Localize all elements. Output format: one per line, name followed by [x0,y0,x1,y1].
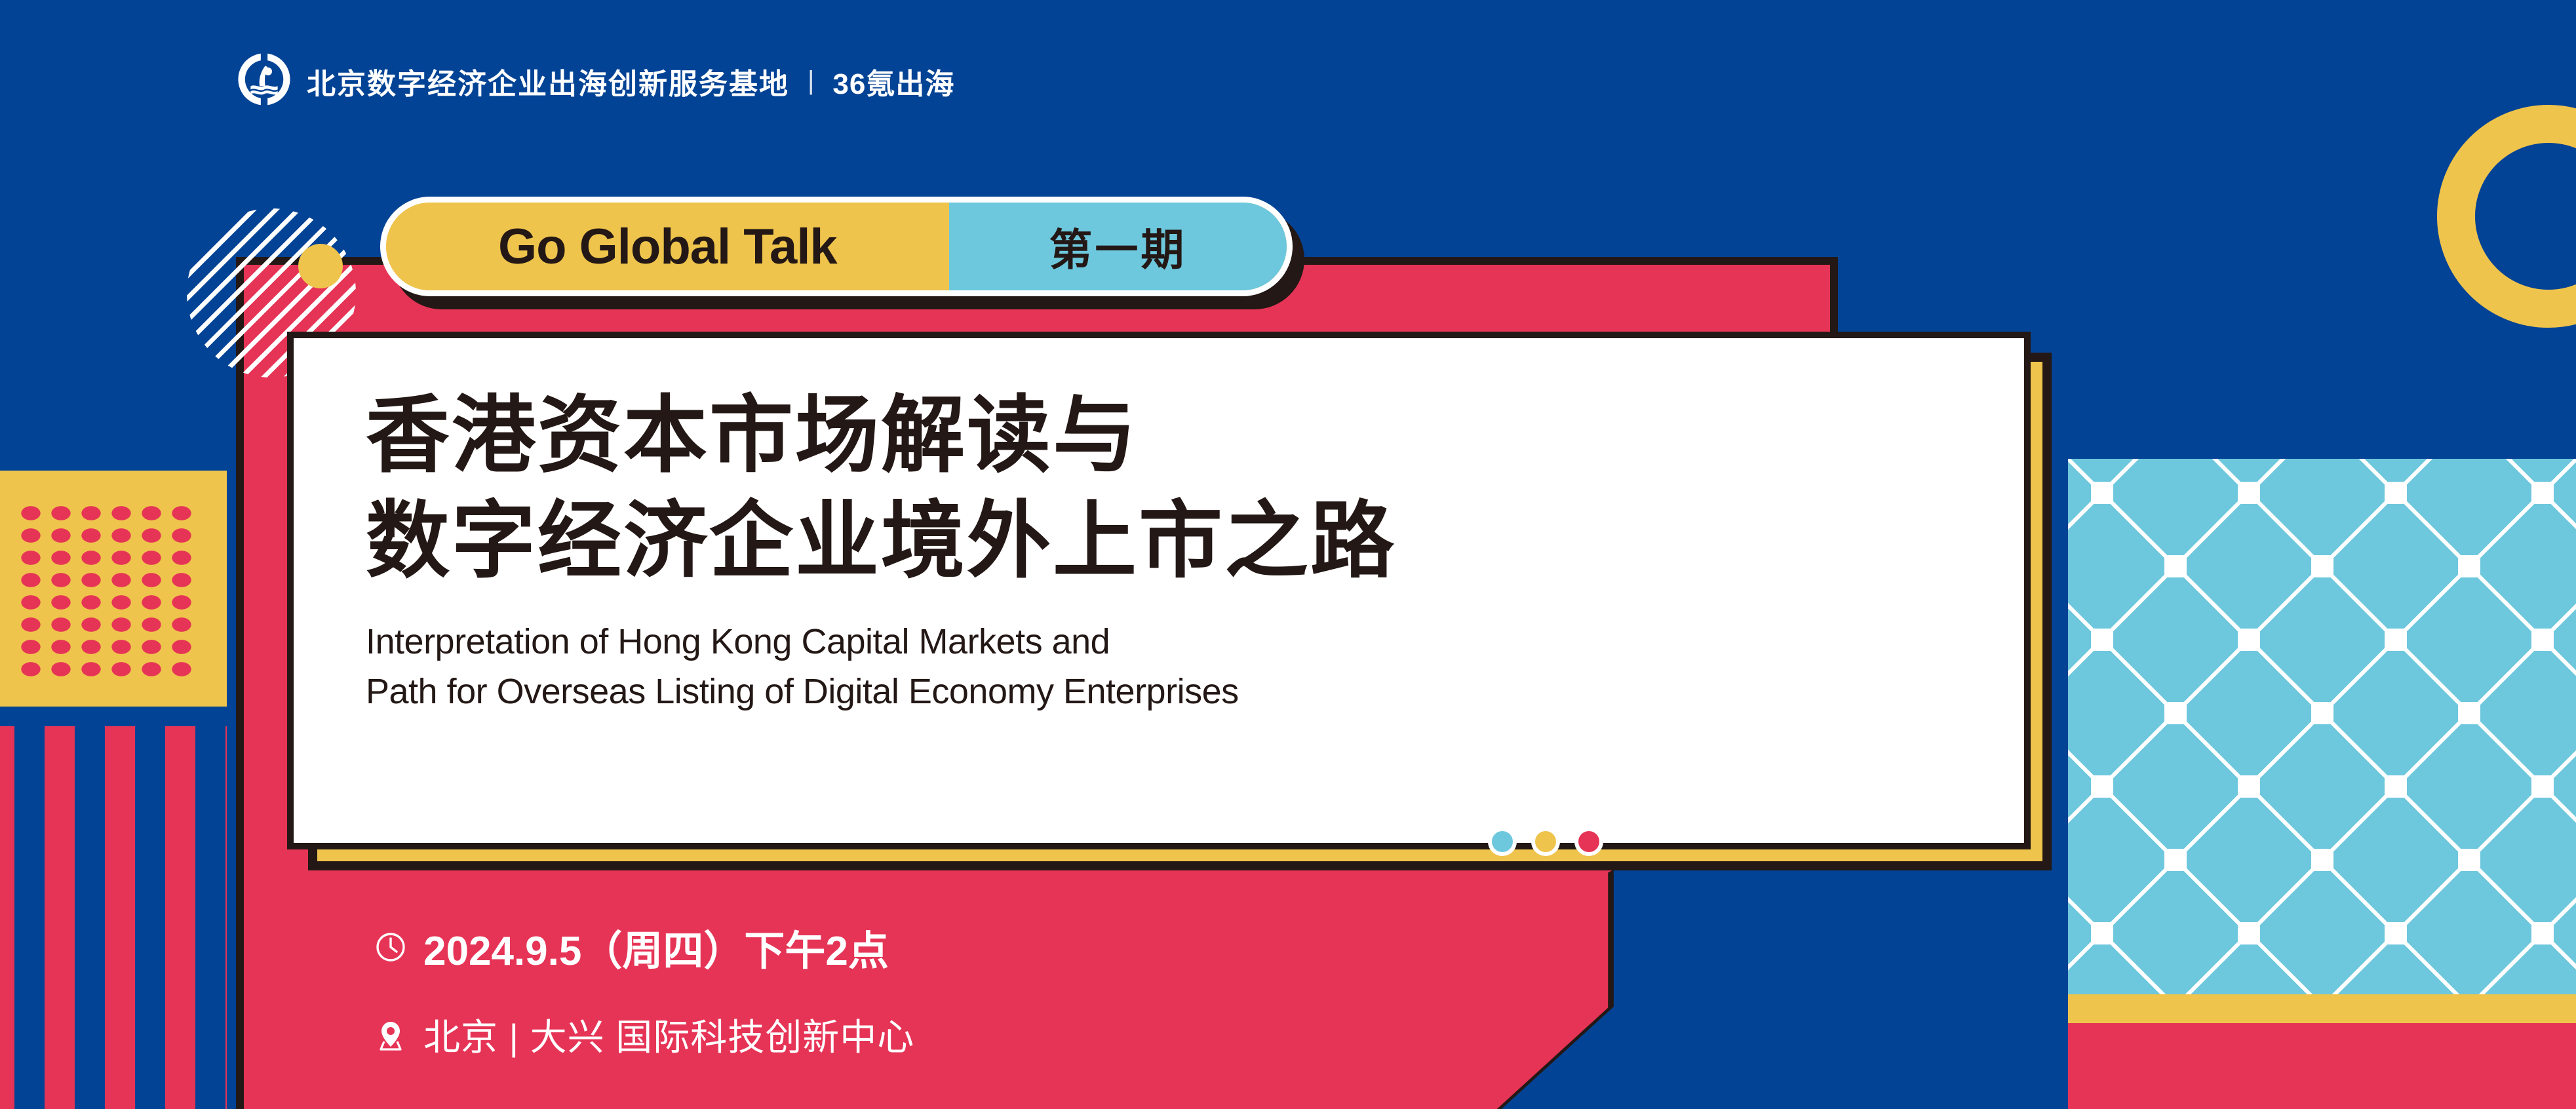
lattice-node [2164,702,2187,724]
title-line-2: 数字经济企业境外上市之路 [366,488,1985,594]
subtitle-line-1: Interpretation of Hong Kong Capital Mark… [366,617,1985,667]
series-badge-right: 第一期 [949,203,1287,290]
lattice-node [2458,849,2480,871]
partner-name: 36氪出海 [832,60,954,102]
event-date: 2024.9.5（周四）下午2点 [423,918,889,977]
dot-cyan [1488,827,1517,856]
lattice-node [2164,849,2187,871]
location-pin-icon [375,1019,406,1051]
series-badge-body: Go Global Talk 第一期 [380,197,1293,296]
lattice-node [2238,629,2260,651]
logo-separator: | [808,66,814,96]
lattice-node [2458,555,2480,577]
dot-yellow [1531,827,1560,856]
title-line-1: 香港资本市场解读与 [366,383,1985,488]
title-card: 香港资本市场解读与 数字经济企业境外上市之路 Interpretation of… [294,338,2024,843]
lattice-node [2238,775,2260,798]
lattice-node [2531,775,2554,798]
lattice-node [2531,629,2554,651]
event-meta: 2024.9.5（周四）下午2点 北京 | 大兴 国际科技创新中心 [375,918,914,1061]
event-date-row: 2024.9.5（周四）下午2点 [375,918,914,977]
series-label: Go Global Talk [498,218,837,275]
lattice-node [2091,482,2113,504]
color-dot-row [1488,827,1603,856]
lattice-node [2311,555,2333,577]
lattice-node [2385,775,2407,798]
yellow-circle-decoration [298,244,343,288]
lattice-node [2311,849,2333,871]
lattice-node [2458,702,2480,724]
yellow-dot-grid-block [0,471,227,707]
lattice-node [2238,922,2260,944]
title-card-content: 香港资本市场解读与 数字经济企业境外上市之路 Interpretation of… [366,383,1985,717]
vertical-stripes-decoration [0,726,227,1109]
lattice-node [2091,629,2113,651]
sailing-circle-logo-icon [236,51,292,111]
lattice-node [2164,555,2187,577]
lattice-node [2311,702,2333,724]
lattice-node [2385,629,2407,651]
lattice-node [2385,922,2407,944]
brand-header: 北京数字经济企业出海创新服务基地 | 36氪出海 [236,51,954,111]
lattice-node [2385,482,2407,504]
subtitle-line-2: Path for Overseas Listing of Digital Eco… [366,667,1985,717]
lattice-node [2531,922,2554,944]
cyan-panel-yellow-underline [2068,994,2576,1023]
event-location: 北京 | 大兴 国际科技创新中心 [423,1008,914,1061]
lattice-node [2091,922,2113,944]
episode-label: 第一期 [1049,215,1186,278]
lattice-node [2091,775,2113,798]
lattice-node [2531,482,2554,504]
series-badge-left: Go Global Talk [386,203,949,290]
event-poster-banner: 北京数字经济企业出海创新服务基地 | 36氪出海 Go Global Talk … [0,0,2576,1109]
clock-icon [375,931,406,963]
lattice-node [2238,482,2260,504]
dot-red [1574,827,1603,856]
org-name: 北京数字经济企业出海创新服务基地 [307,60,789,102]
event-location-row: 北京 | 大兴 国际科技创新中心 [375,1008,914,1061]
red-dot-grid [16,502,194,679]
cyan-panel-red-footer [2068,1023,2576,1109]
series-badge: Go Global Talk 第一期 [380,197,1293,296]
